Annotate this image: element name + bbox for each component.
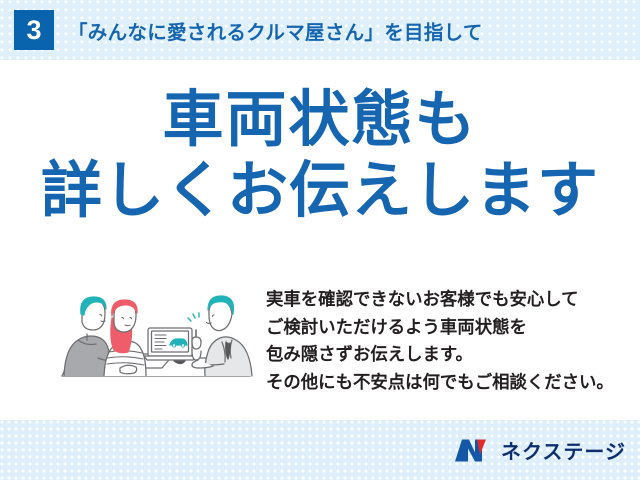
nextage-n-logo-icon	[453, 437, 493, 463]
advertisement-page: 3 「みんなに愛されるクルマ屋さん」を目指して 車両状態も 詳しくお伝えします	[0, 0, 640, 480]
body-copy: 実車を確認できないお客様でも安心して ご検討いただけるよう車両状態を 包み隠さず…	[266, 286, 616, 396]
body-line-1: 実車を確認できないお客様でも安心して	[266, 286, 616, 314]
body-line-3: 包み隠さずお伝えします。	[266, 341, 616, 369]
body-line-4: その他にも不安点は何でもご相談ください。	[266, 369, 616, 397]
header-band: 3 「みんなに愛されるクルマ屋さん」を目指して	[0, 0, 640, 60]
header-title: 「みんなに愛されるクルマ屋さん」を目指して	[68, 16, 483, 45]
consultation-scene-illustration	[56, 272, 256, 392]
footer-band: ネクステージ	[0, 420, 640, 480]
headline-line-1: 車両状態も	[0, 88, 640, 150]
body-line-2: ご検討いただけるよう車両状態を	[266, 314, 616, 342]
main-headline: 車両状態も 詳しくお伝えします	[0, 88, 640, 221]
brand-name: ネクステージ	[501, 436, 626, 465]
section-number-badge: 3	[14, 10, 54, 50]
brand-lockup: ネクステージ	[453, 436, 626, 465]
headline-line-2: 詳しくお伝えします	[0, 159, 640, 221]
